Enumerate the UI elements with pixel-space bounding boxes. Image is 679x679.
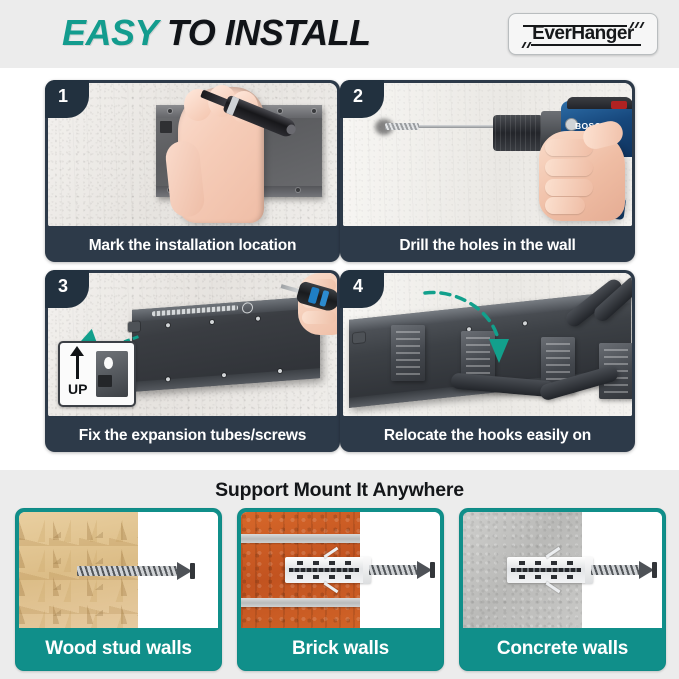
step-card-3[interactable]: UP 3 Fix the expansion tubes/screws (45, 270, 340, 452)
plug-notch (551, 575, 557, 579)
plug-notch (345, 575, 351, 579)
hook-ridges (396, 331, 420, 375)
screw-icon (369, 561, 435, 579)
header-banner: EASY TO INSTALL EverHanger (0, 0, 679, 68)
wall-type-card-concrete[interactable]: Concrete walls (459, 508, 666, 671)
screw-head-cap (430, 562, 435, 578)
screw-head-cap (190, 563, 195, 579)
plug-core-screw (289, 568, 359, 572)
step-number: 3 (58, 276, 68, 297)
bit-flute (385, 123, 419, 130)
screw-head-cap (652, 562, 657, 578)
step-4-photo (343, 273, 632, 416)
step-number: 2 (353, 86, 363, 107)
plug-notch (535, 575, 541, 579)
wall-type-label: Brick walls (238, 628, 443, 670)
plate-hole (278, 109, 282, 113)
logo-wordmark: EverHanger (532, 23, 634, 45)
step-4-caption: Relocate the hooks easily on (340, 419, 635, 452)
step-2-caption: Drill the holes in the wall (340, 229, 635, 262)
plug-notch (567, 575, 573, 579)
rail-end-bracket (353, 332, 365, 343)
plug-notch (519, 575, 525, 579)
plug-core-screw (511, 568, 581, 572)
bracket-hole (104, 357, 113, 369)
concrete-wall-illustration (463, 512, 662, 628)
wall-type-label: Wood stud walls (16, 628, 221, 670)
plug-notch (567, 561, 573, 565)
plug-notch (297, 575, 303, 579)
step-1-photo (48, 83, 337, 226)
steps-grid: 1 Mark the installation location BOSCH (0, 68, 679, 468)
plug-notch (519, 561, 525, 565)
step-2-photo: BOSCH (343, 83, 632, 226)
drill-bit-icon (385, 123, 507, 130)
screw-threads (591, 565, 639, 575)
plug-notch (329, 561, 335, 565)
up-orientation-inset: UP (58, 341, 136, 407)
plug-notch (329, 575, 335, 579)
rail-hole (210, 320, 214, 324)
page-title-accent: EASY (62, 12, 157, 53)
step-card-1[interactable]: 1 Mark the installation location (45, 80, 340, 262)
finger (545, 179, 593, 196)
section-title: Support Mount It Anywhere (0, 479, 679, 502)
wood-wall-illustration (19, 512, 218, 628)
logo-graphic: EverHanger (509, 14, 657, 54)
wall-type-label: Concrete walls (460, 628, 665, 670)
everhanger-logo: EverHanger (508, 13, 658, 55)
page-title: EASY TO INSTALL (62, 12, 371, 54)
step-card-2[interactable]: BOSCH 2 Drill the holes in the wall (340, 80, 635, 262)
bracket-tab (98, 375, 112, 387)
screw-threads (369, 565, 417, 575)
mount-anywhere-section: Support Mount It Anywhere Wood stud wall… (0, 470, 679, 679)
logo-tick-icon (639, 22, 644, 28)
rail-hole (256, 317, 260, 321)
screw-threads (77, 566, 177, 576)
finger (545, 159, 593, 176)
plug-notch (535, 561, 541, 565)
mortar-joint (241, 534, 360, 543)
up-arrow-shaft (76, 351, 79, 379)
brick-wall-illustration (241, 512, 440, 628)
plate-hole (312, 109, 316, 113)
bracket-icon (96, 351, 128, 397)
wall-type-card-brick[interactable]: Brick walls (237, 508, 444, 671)
finger (545, 197, 585, 214)
plate-hole (296, 188, 300, 192)
step-card-4[interactable]: 4 Relocate the hooks easily on (340, 270, 635, 452)
plug-notch (313, 561, 319, 565)
step-3-caption: Fix the expansion tubes/screws (45, 419, 340, 452)
step-1-caption: Mark the installation location (45, 229, 340, 262)
drill-red-accent (611, 101, 627, 109)
step-3-photo: UP (48, 273, 337, 416)
step-number: 1 (58, 86, 68, 107)
screw-icon (77, 562, 193, 580)
rail-hole (166, 323, 170, 327)
plug-notch (313, 575, 319, 579)
drill-chuck-grooves (495, 115, 543, 151)
plug-notch (345, 561, 351, 565)
anchor-plug-icon (507, 557, 593, 583)
screw-icon (591, 561, 657, 579)
plate-hole (168, 109, 172, 113)
hook-icon[interactable] (391, 325, 425, 381)
up-label: UP (68, 381, 87, 397)
hand-icon (539, 131, 625, 221)
page-title-rest: TO INSTALL (157, 12, 370, 53)
mortar-joint (241, 598, 360, 607)
curved-dashed-arrow-icon (421, 285, 525, 381)
wall-type-card-wood[interactable]: Wood stud walls (15, 508, 222, 671)
anchor-plug-icon (285, 557, 371, 583)
plate-slot (160, 121, 172, 133)
plug-notch (297, 561, 303, 565)
plug-notch (551, 561, 557, 565)
step-number: 4 (353, 276, 363, 297)
